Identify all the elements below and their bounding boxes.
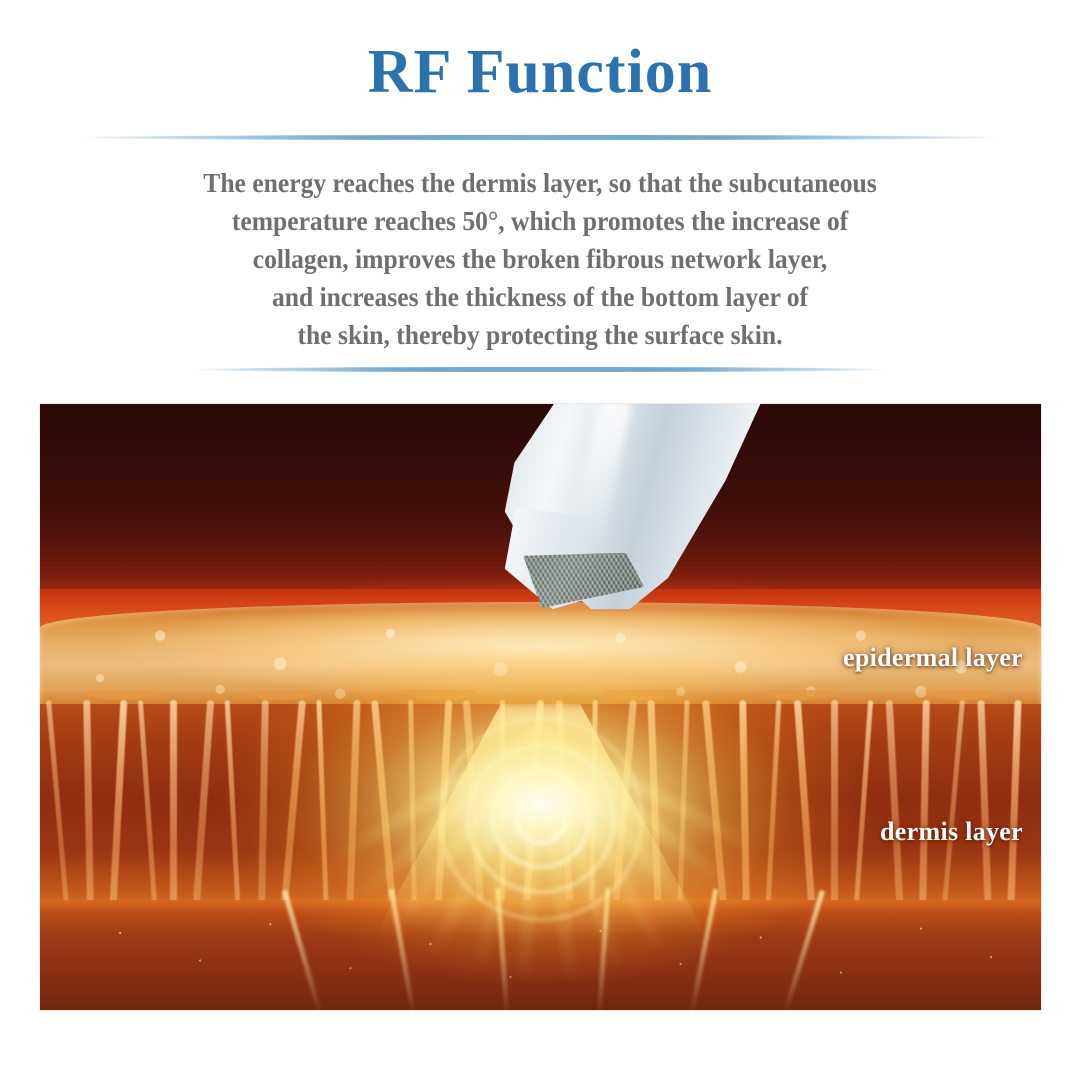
collagen-fiber bbox=[193, 700, 214, 905]
collagen-fiber bbox=[919, 700, 930, 905]
collagen-fiber bbox=[739, 700, 750, 905]
collagen-fiber bbox=[225, 700, 241, 905]
collagen-fiber bbox=[46, 700, 69, 905]
collagen-fiber bbox=[1007, 700, 1021, 905]
collagen-fiber bbox=[463, 700, 484, 905]
collagen-fiber bbox=[555, 700, 573, 905]
collagen-fiber bbox=[435, 700, 453, 905]
collagen-fiber bbox=[500, 700, 505, 905]
collagen-fiber bbox=[371, 700, 396, 905]
collagen-fiber bbox=[347, 700, 361, 905]
rf-function-infographic: RF Function The energy reaches the dermi… bbox=[0, 0, 1080, 1069]
collagen-fiber bbox=[281, 700, 306, 905]
collagen-fiber bbox=[942, 700, 965, 905]
background-above-skin bbox=[40, 404, 1041, 609]
collagen-fiber bbox=[677, 700, 689, 905]
collagen-fiber bbox=[612, 700, 637, 905]
description-line-1: The energy reaches the dermis layer, so … bbox=[94, 164, 987, 202]
collagen-fiber bbox=[977, 700, 991, 905]
collagen-fiber bbox=[138, 700, 157, 905]
collagen-fiber bbox=[258, 700, 269, 905]
label-dermis-layer: dermis layer bbox=[880, 817, 1023, 847]
collagen-fiber bbox=[885, 700, 903, 905]
description-line-5: the skin, thereby protecting the surface… bbox=[94, 316, 987, 354]
label-epidermal-layer: epidermal layer bbox=[843, 643, 1023, 673]
collagen-fiber bbox=[110, 700, 128, 905]
collagen-fiber bbox=[702, 700, 727, 905]
collagen-fiber bbox=[647, 700, 661, 905]
description-line-3: collagen, improves the broken fibrous ne… bbox=[94, 240, 987, 278]
subcutaneous-speckle-texture bbox=[40, 900, 1041, 1010]
divider-top bbox=[78, 135, 1002, 140]
description-paragraph: The energy reaches the dermis layer, so … bbox=[94, 164, 987, 354]
description-line-4: and increases the thickness of the botto… bbox=[94, 278, 987, 316]
collagen-fiber bbox=[83, 700, 94, 905]
skin-cross-section-illustration: epidermal layer dermis layer bbox=[40, 404, 1041, 1010]
subcutaneous-layer-band bbox=[40, 900, 1041, 1010]
collagen-fiber bbox=[589, 700, 598, 905]
description-line-2: temperature reaches 50°, which promotes … bbox=[94, 202, 987, 240]
collagen-fiber bbox=[170, 700, 177, 905]
collagen-fiber bbox=[765, 700, 781, 905]
collagen-fiber bbox=[854, 700, 873, 905]
collagen-fiber-group bbox=[40, 704, 1041, 914]
dermis-layer-band bbox=[40, 704, 1041, 914]
divider-bottom bbox=[190, 367, 890, 372]
collagen-fiber bbox=[794, 700, 815, 905]
collagen-fiber bbox=[831, 700, 838, 905]
collagen-fiber bbox=[317, 700, 329, 905]
collagen-fiber bbox=[523, 700, 544, 905]
page-title: RF Function bbox=[0, 40, 1080, 105]
collagen-fiber bbox=[409, 700, 418, 905]
